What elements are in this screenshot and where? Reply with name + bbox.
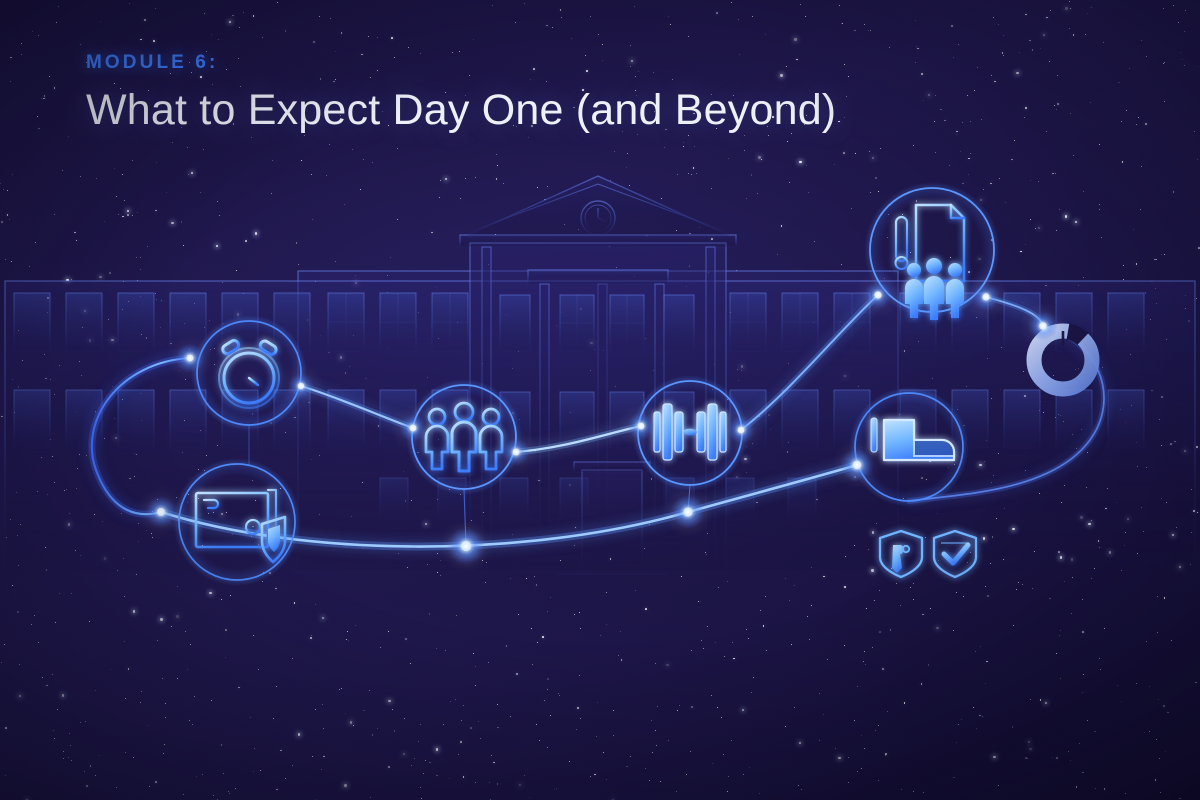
page-title: What to Expect Day One (and Beyond) bbox=[86, 86, 836, 135]
slide-canvas: MODULE 6: What to Expect Day One (and Be… bbox=[0, 0, 1200, 800]
module-eyebrow: MODULE 6: bbox=[86, 52, 218, 74]
title-block: MODULE 6: What to Expect Day One (and Be… bbox=[0, 0, 1200, 800]
